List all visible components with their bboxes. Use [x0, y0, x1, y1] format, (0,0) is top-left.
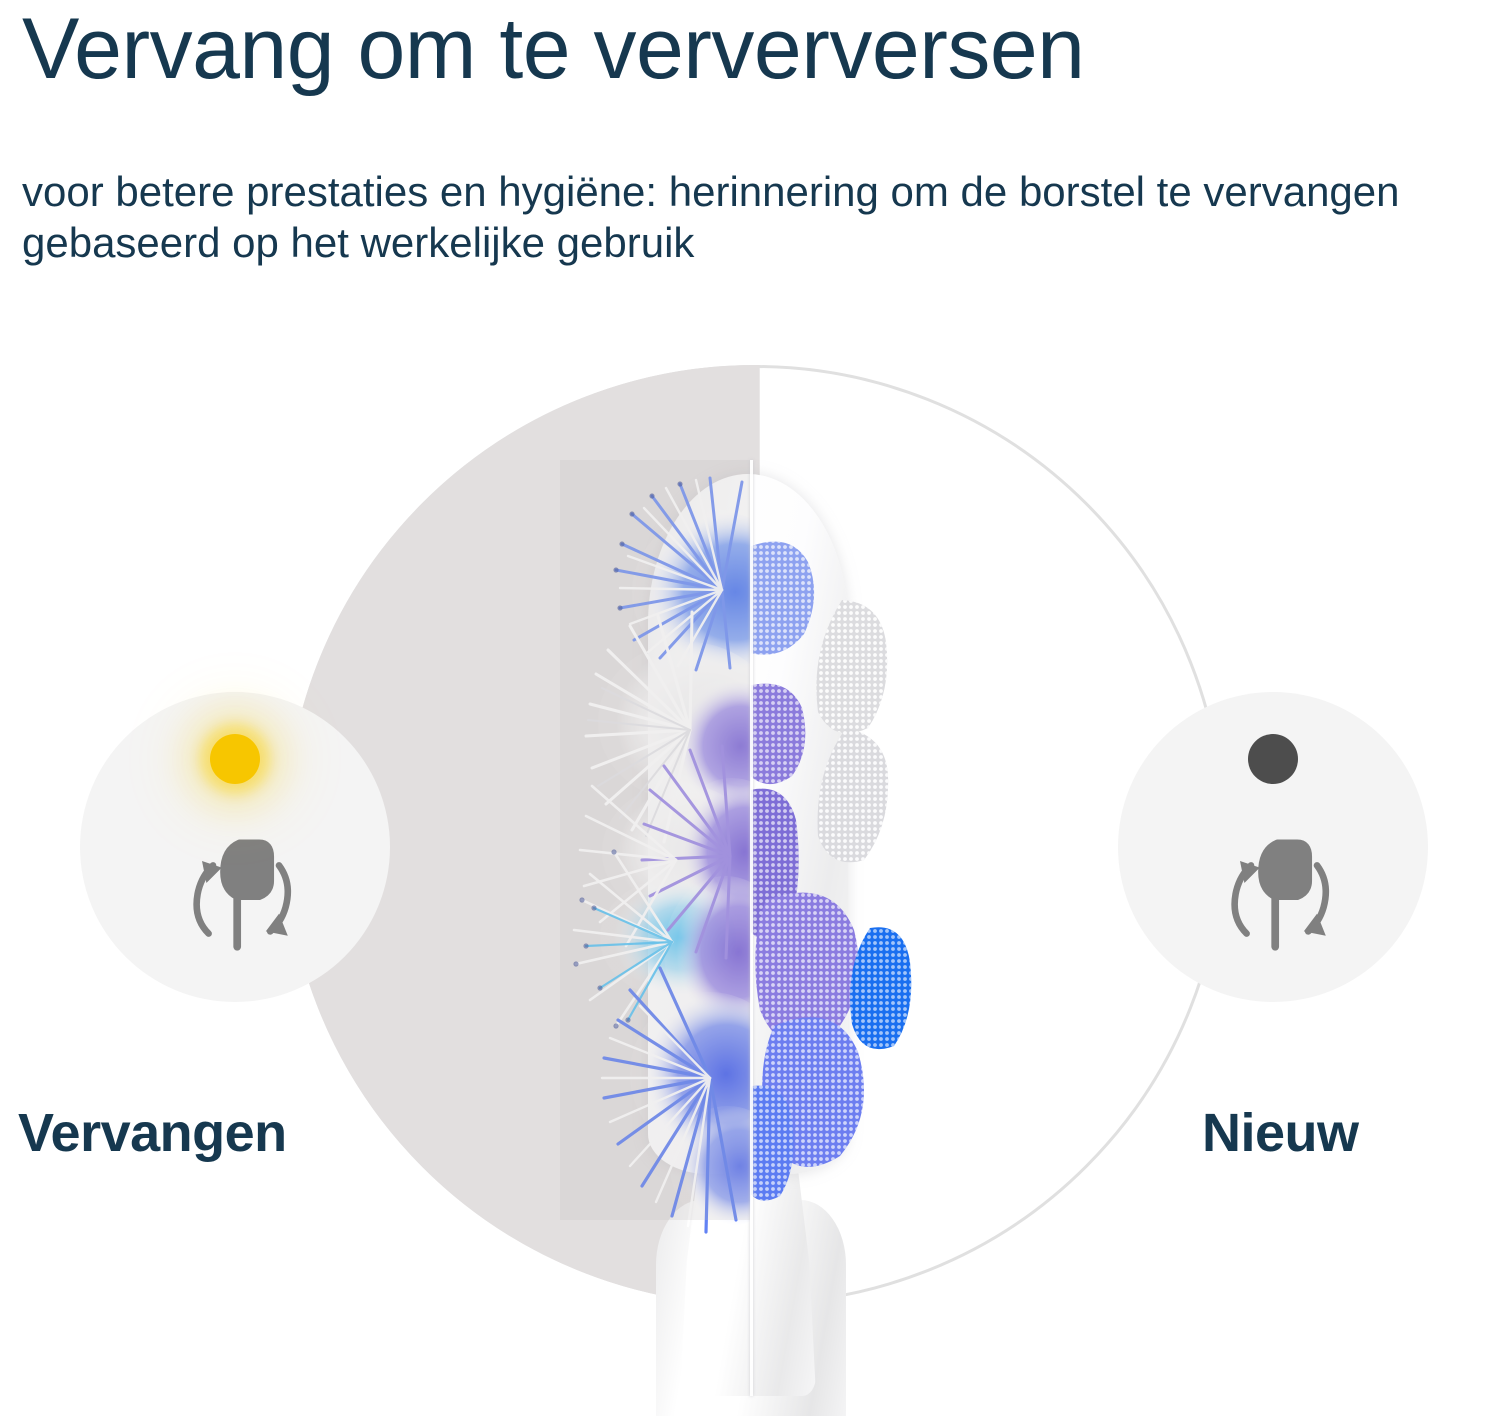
- caption-replace: Vervangen: [18, 1102, 287, 1164]
- led-indicator-active: [210, 734, 260, 784]
- product-illustration: [0, 340, 1500, 1396]
- badge-new: [1118, 692, 1428, 1002]
- page-subtitle: voor betere prestaties en hygiëne: herin…: [22, 92, 1482, 268]
- brush-head-replace-icon: [1207, 828, 1339, 960]
- worn-side-frayed-bristles: [560, 460, 960, 1396]
- intro-text-block: Vervang om te ververversen voor betere p…: [22, 0, 1482, 268]
- led-indicator-inactive: [1248, 734, 1298, 784]
- worn-new-split-line: [750, 460, 753, 1396]
- page-title: Vervang om te ververversen: [22, 0, 1482, 92]
- badge-replace: [80, 692, 390, 1002]
- caption-new: Nieuw: [1202, 1102, 1359, 1164]
- brush-head-replace-icon: [169, 828, 301, 960]
- toothbrush-head-graphic: [560, 460, 960, 1396]
